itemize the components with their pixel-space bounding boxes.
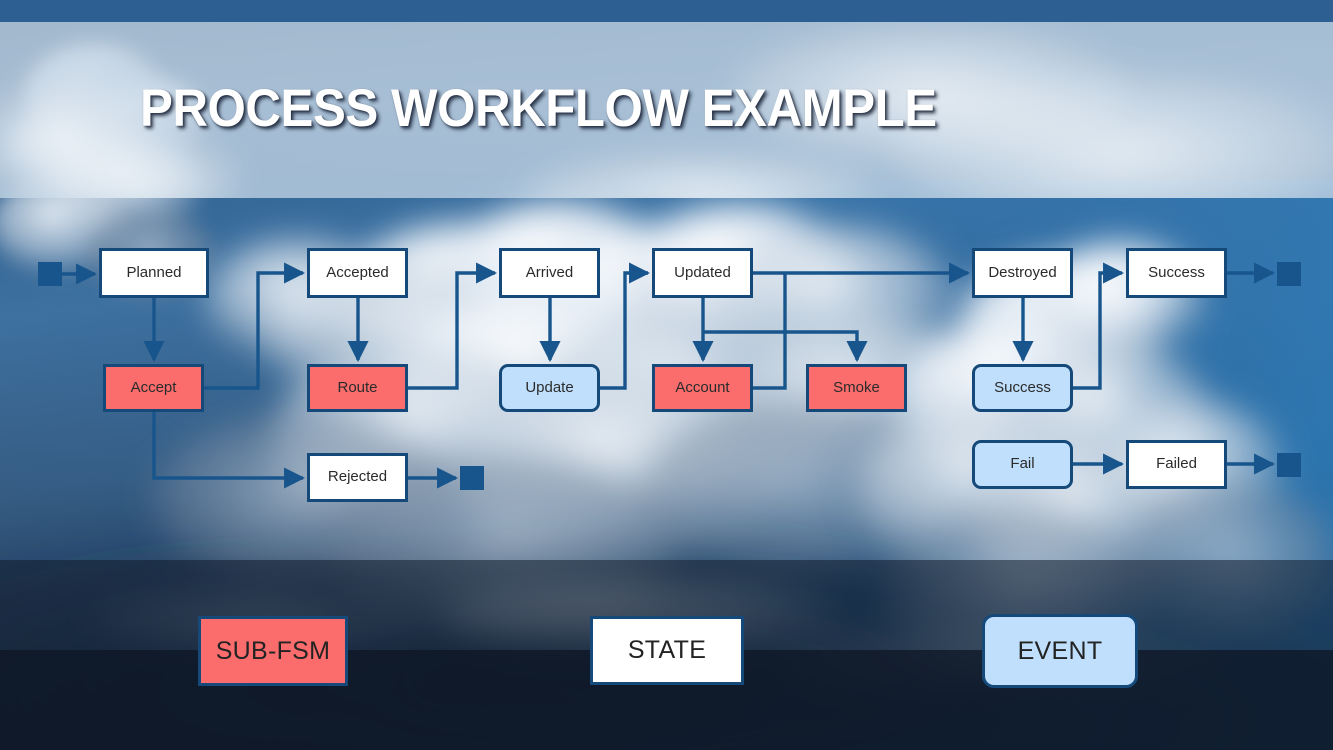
node-accepted[interactable]: Accepted	[307, 248, 408, 298]
node-label: Arrived	[526, 265, 574, 282]
node-update[interactable]: Update	[499, 364, 600, 412]
edge-accept-rejected	[154, 412, 303, 478]
node-rejected[interactable]: Rejected	[307, 453, 408, 502]
legend-label: STATE	[628, 636, 706, 665]
node-label: Accept	[131, 380, 177, 397]
node-label: Rejected	[328, 469, 387, 486]
node-arrived[interactable]: Arrived	[499, 248, 600, 298]
node-route[interactable]: Route	[307, 364, 408, 412]
slide-canvas: PROCESS WORKFLOW EXAMPLE	[0, 0, 1333, 750]
node-smoke[interactable]: Smoke	[806, 364, 907, 412]
terminal-end-failed[interactable]	[1277, 453, 1301, 477]
node-label: Accepted	[326, 265, 389, 282]
edge-accept-accepted	[204, 273, 303, 388]
edge-success-event-state	[1073, 273, 1122, 388]
edge-route-arrived	[408, 273, 495, 388]
node-accept[interactable]: Accept	[103, 364, 204, 412]
legend-label: SUB-FSM	[216, 637, 331, 666]
edge-update-updated	[600, 273, 648, 388]
node-label: Failed	[1156, 456, 1197, 473]
node-destroyed[interactable]: Destroyed	[972, 248, 1073, 298]
terminal-start[interactable]	[38, 262, 62, 286]
legend-sub-fsm[interactable]: SUB-FSM	[198, 616, 348, 686]
node-label: Updated	[674, 265, 731, 282]
legend-state[interactable]: STATE	[590, 616, 744, 685]
node-updated[interactable]: Updated	[652, 248, 753, 298]
node-label: Success	[1148, 265, 1205, 282]
node-label: Smoke	[833, 380, 880, 397]
legend-label: EVENT	[1018, 637, 1103, 666]
node-success-state[interactable]: Success	[1126, 248, 1227, 298]
node-label: Update	[525, 380, 573, 397]
node-planned[interactable]: Planned	[99, 248, 209, 298]
node-label: Fail	[1010, 456, 1034, 473]
page-title: PROCESS WORKFLOW EXAMPLE	[140, 78, 937, 139]
node-label: Planned	[126, 265, 181, 282]
node-label: Destroyed	[988, 265, 1056, 282]
terminal-end-rejected[interactable]	[460, 466, 484, 490]
edge-updated-smoke	[703, 332, 857, 360]
node-success-event[interactable]: Success	[972, 364, 1073, 412]
node-label: Route	[337, 380, 377, 397]
node-account[interactable]: Account	[652, 364, 753, 412]
node-failed-state[interactable]: Failed	[1126, 440, 1227, 489]
node-label: Success	[994, 380, 1051, 397]
node-label: Account	[675, 380, 729, 397]
legend-event[interactable]: EVENT	[982, 614, 1138, 688]
node-fail-event[interactable]: Fail	[972, 440, 1073, 489]
terminal-end-success[interactable]	[1277, 262, 1301, 286]
